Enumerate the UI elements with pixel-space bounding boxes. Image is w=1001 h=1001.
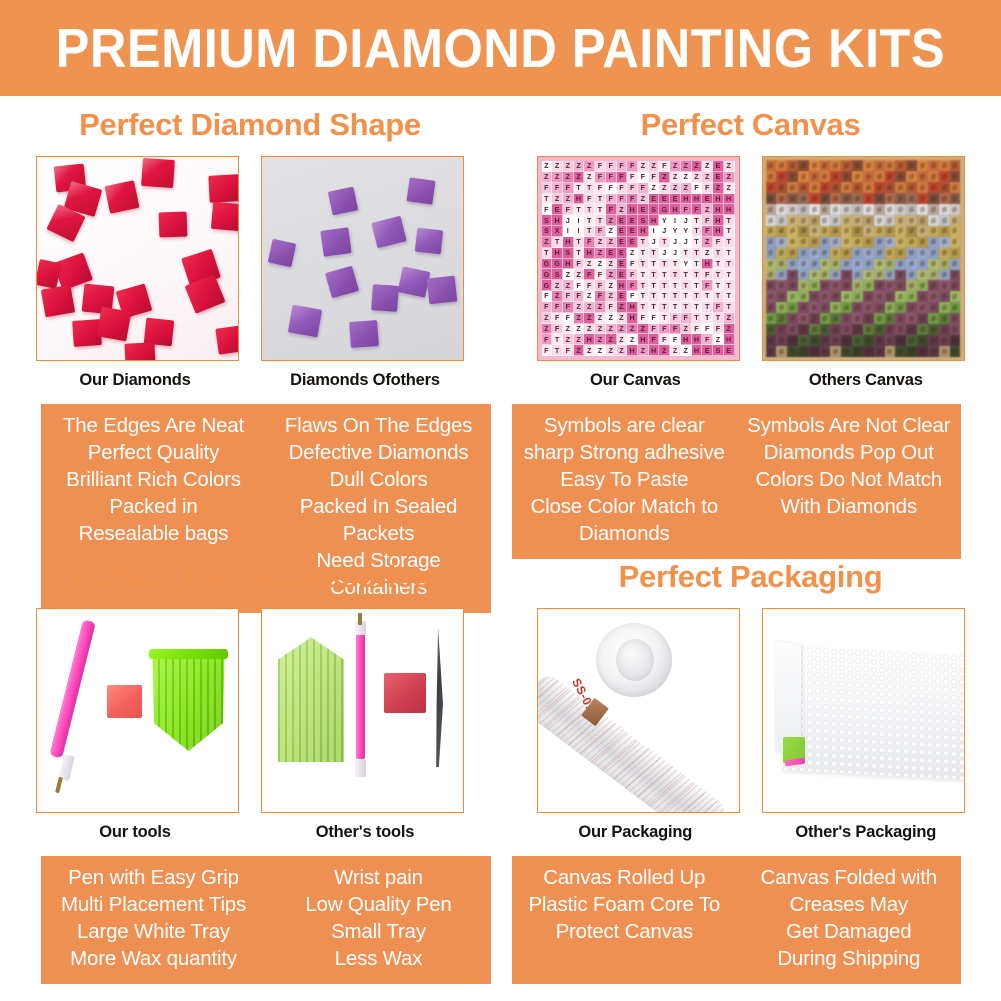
photo-our-packaging: SS-011	[537, 608, 740, 813]
bullet-item: With Diamonds	[739, 493, 960, 520]
caption-our-packaging: Our Packaging	[520, 823, 751, 842]
pen-needle	[55, 777, 63, 793]
bullet-item: Plastic Foam Core To	[514, 891, 735, 918]
bullet-item: Small Tray	[268, 918, 489, 945]
pen-end-cap	[355, 759, 366, 777]
bubble-mailer	[783, 646, 965, 780]
other-tools-art	[262, 609, 463, 812]
section-canvas: Perfect Canvas ZZZZZFFFFZZFZZZZEZZZZZZFF…	[500, 96, 1001, 548]
caption-row: Our Diamonds Diamonds Ofothers	[0, 371, 500, 390]
mailer-packaging-art	[763, 609, 964, 812]
green-tray	[151, 651, 226, 751]
bullet-item: Canvas Rolled Up	[514, 864, 735, 891]
page-title: PREMIUM DIAMOND PAINTING KITS	[56, 21, 945, 76]
small-green-tray	[278, 637, 344, 762]
bullet-item: Symbols Are Not Clear	[739, 412, 960, 439]
bullets-bar-packaging: Canvas Rolled Up Plastic Foam Core To Pr…	[512, 856, 961, 984]
bullets-bar-tools: Pen with Easy Grip Multi Placement Tips …	[41, 856, 491, 984]
caption-other-packaging: Other's Packaging	[751, 823, 982, 842]
bullets-others: Canvas Folded with Creases May Get Damag…	[737, 864, 962, 972]
bullet-item: Diamonds Pop Out	[739, 439, 960, 466]
bullets-ours: Symbols are clear sharp Strong adhesive …	[512, 412, 737, 547]
bullet-item: During Shipping	[739, 945, 960, 972]
caption-row: Our Packaging Other's Packaging	[500, 823, 1001, 842]
section-title: Perfect Packaging	[500, 560, 1001, 594]
bullet-item: Symbols are clear	[514, 412, 735, 439]
photo-row: ZZZZZFFFFZZFZZZZEZZZZZZFFFFFFZZZZZEZFFFT…	[500, 156, 1001, 361]
bullets-bar-canvas: Symbols are clear sharp Strong adhesive …	[512, 404, 961, 559]
bullet-item: Packed in	[43, 493, 264, 520]
tube-cap-inner	[616, 639, 654, 681]
bullet-item: Defective Diamonds	[268, 439, 489, 466]
photo-row	[0, 156, 500, 361]
photo-other-diamonds	[261, 156, 464, 361]
section-packaging: Perfect Packaging SS-011	[500, 548, 1001, 1001]
photo-our-tools	[36, 608, 239, 813]
bullets-others: Symbols Are Not Clear Diamonds Pop Out C…	[737, 412, 962, 547]
section-title: Perfect Canvas	[500, 108, 1001, 142]
symbol-canvas-art: ZZZZZFFFFZZFZZZZEZZZZZZFFFFFFZZZZZEZFFFT…	[538, 157, 739, 360]
bullet-item: Wrist pain	[268, 864, 489, 891]
bullet-item: Perfect Quality	[43, 439, 264, 466]
caption-others-canvas: Others Canvas	[751, 371, 982, 390]
bullet-item: Protect Canvas	[514, 918, 735, 945]
caption-row: Our Canvas Others Canvas	[500, 371, 1001, 390]
purple-diamonds-art	[262, 157, 463, 360]
bullet-item: Less Wax	[268, 945, 489, 972]
bullet-item: Low Quality Pen	[268, 891, 489, 918]
sections-grid: Perfect Diamond Shape	[0, 96, 1001, 1001]
blurry-grid	[766, 160, 961, 357]
bullets-ours: Pen with Easy Grip Multi Placement Tips …	[41, 864, 266, 972]
green-tray-lip	[149, 649, 228, 659]
bullet-item: Multi Placement Tips	[43, 891, 264, 918]
bullet-item: Get Damaged	[739, 918, 960, 945]
header-bar: PREMIUM DIAMOND PAINTING KITS	[0, 0, 1001, 96]
caption-our-tools: Our tools	[20, 823, 250, 842]
pen-needle	[358, 613, 362, 625]
photo-our-canvas: ZZZZZFFFFZZFZZZZEZZZZZZFFFFFFZZZZZEZFFFT…	[537, 156, 740, 361]
bubble-texture	[783, 646, 965, 780]
symbol-grid: ZZZZZFFFFZZFZZZZEZZZZZZFFFFFFZZZZZEZFFFT…	[542, 161, 735, 356]
bullets-ours: Canvas Rolled Up Plastic Foam Core To Pr…	[512, 864, 737, 972]
pink-pen	[356, 631, 365, 761]
our-tools-art	[37, 609, 238, 812]
photo-row	[0, 608, 500, 813]
bullet-item: More Wax quantity	[43, 945, 264, 972]
wax-square	[107, 685, 142, 718]
bullet-item: Flaws On The Edges	[268, 412, 489, 439]
section-diamond-shape: Perfect Diamond Shape	[0, 96, 500, 548]
caption-our-diamonds: Our Diamonds	[20, 371, 250, 390]
photo-row: SS-011	[500, 608, 1001, 813]
section-tool-accessories: Perfect Tool Accessories	[0, 548, 500, 1001]
section-title: Perfect Tool Accessories	[0, 560, 500, 594]
bullet-item: Colors Do Not Match	[739, 466, 960, 493]
bullet-item: Packed In Sealed Packets	[268, 493, 489, 547]
bullet-item: Close Color Match to	[514, 493, 735, 520]
bullet-item: Dull Colors	[268, 466, 489, 493]
wax-square	[384, 673, 426, 713]
photo-our-diamonds	[36, 156, 239, 361]
bullet-item: Canvas Folded with	[739, 864, 960, 891]
caption-row: Our tools Other's tools	[0, 823, 500, 842]
bullet-item: Diamonds	[514, 520, 735, 547]
bullet-item: Pen with Easy Grip	[43, 864, 264, 891]
tweezers	[432, 627, 443, 767]
caption-our-canvas: Our Canvas	[520, 371, 751, 390]
bullet-item: Easy To Paste	[514, 466, 735, 493]
red-diamonds-art	[37, 157, 238, 360]
pink-pen	[49, 620, 95, 759]
photo-other-tools	[261, 608, 464, 813]
infographic-page: PREMIUM DIAMOND PAINTING KITS Perfect Di…	[0, 0, 1001, 1001]
bullet-item: sharp Strong adhesive	[514, 439, 735, 466]
section-title: Perfect Diamond Shape	[0, 108, 500, 142]
bullet-item: Resealable bags	[43, 520, 264, 547]
photo-other-packaging	[762, 608, 965, 813]
bullet-item: Large White Tray	[43, 918, 264, 945]
bullets-others: Wrist pain Low Quality Pen Small Tray Le…	[266, 864, 491, 972]
caption-other-diamonds: Diamonds Ofothers	[250, 371, 480, 390]
tray-ridges	[278, 637, 344, 762]
bullet-item: Creases May	[739, 891, 960, 918]
bullet-item: The Edges Are Neat	[43, 412, 264, 439]
bullet-item: Brilliant Rich Colors	[43, 466, 264, 493]
tube-packaging-art: SS-011	[538, 609, 739, 812]
tray-ridges	[151, 651, 226, 751]
blurry-canvas-art	[763, 157, 964, 360]
photo-others-canvas	[762, 156, 965, 361]
caption-other-tools: Other's tools	[250, 823, 480, 842]
